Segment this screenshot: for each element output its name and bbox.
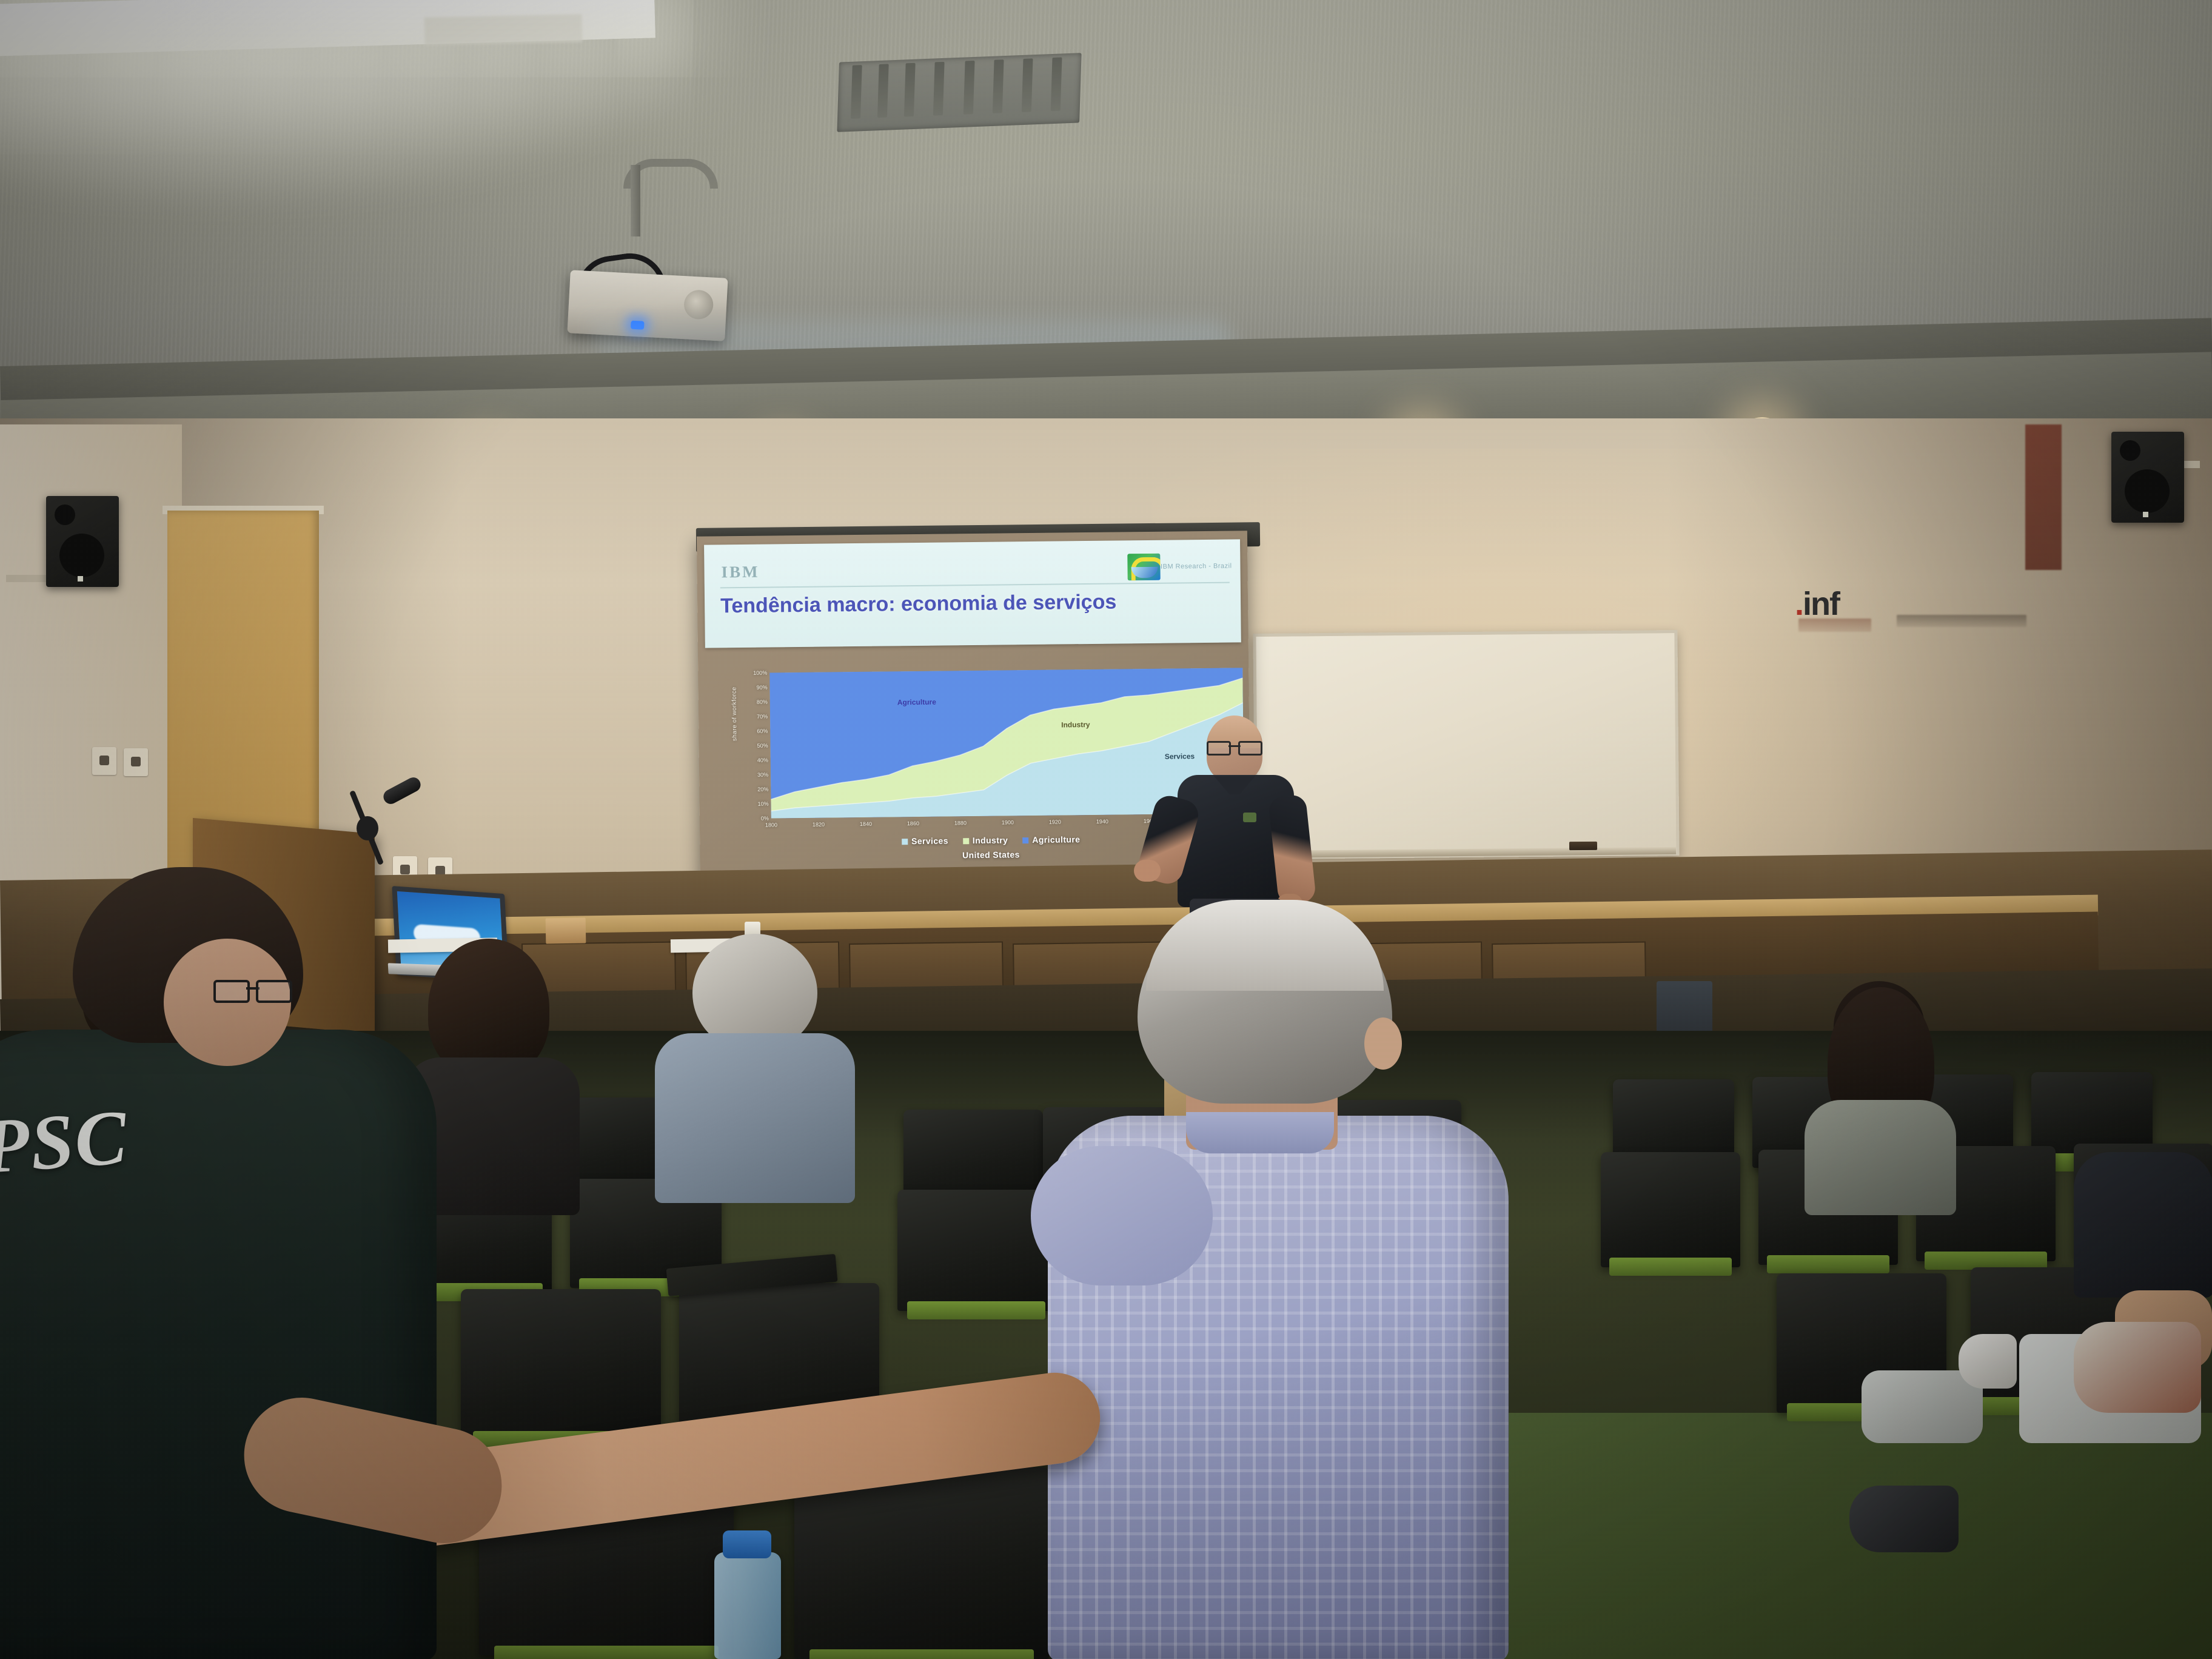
chart-x-tick: 1800 xyxy=(765,822,777,828)
chart-y-tick: 10% xyxy=(757,801,768,807)
chart-x-tick: 1820 xyxy=(813,822,825,828)
foreground-attendee-collar xyxy=(1186,1112,1334,1153)
inf-logo-dot: . xyxy=(1795,586,1803,622)
chart-y-tick: 90% xyxy=(756,685,767,691)
chart-x-tick: 1880 xyxy=(954,820,967,826)
microphone-joint xyxy=(357,816,378,840)
chart-x-tick: 1900 xyxy=(1002,819,1014,825)
air-conditioning-vent-icon xyxy=(837,53,1081,132)
fluorescent-light-secondary-icon xyxy=(424,14,583,45)
projector-lens-icon xyxy=(683,289,714,320)
water-bottle-cap-icon xyxy=(723,1530,771,1558)
chart-y-axis-ticks: 0%10%20%30%40%50%60%70%80%90%100% xyxy=(739,673,769,819)
chart-x-tick: 1940 xyxy=(1096,819,1108,825)
foreground-attendee-hair-top xyxy=(1146,900,1384,991)
inf-logo-word: inf xyxy=(1803,586,1839,622)
chart-y-tick: 80% xyxy=(757,699,768,705)
presenter-left-hand xyxy=(1134,860,1161,882)
ibm-research-brazil-logo-icon xyxy=(1127,554,1160,581)
slide-header-panel: IBM IBM Research - Brazil Tendência macr… xyxy=(704,539,1241,648)
chart-y-axis-label: share of workforce xyxy=(731,687,739,742)
chart-legend-item: Agriculture xyxy=(1022,834,1080,845)
whiteboard-eraser-icon[interactable] xyxy=(1569,842,1597,850)
ceiling-projector-icon xyxy=(567,270,728,341)
chart-legend-swatch xyxy=(963,838,969,844)
chart-legend-label: Industry xyxy=(973,835,1008,845)
chart-y-tick: 100% xyxy=(753,670,767,676)
psc-tshirt-text: PSC xyxy=(0,1093,131,1191)
auditorium-photo: .inf IBM IBM Research - Brazil Tendência… xyxy=(0,0,2212,1659)
inf-logo: .inf xyxy=(1795,585,1839,623)
chart-y-tick: 30% xyxy=(757,772,768,778)
chart-y-tick: 0% xyxy=(761,816,769,822)
chart-legend-swatch xyxy=(1022,837,1028,843)
attendee-center-bald xyxy=(643,934,873,1201)
chart-y-tick: 50% xyxy=(757,743,768,749)
chart-y-tick: 20% xyxy=(757,786,768,793)
chart-legend-swatch xyxy=(902,839,908,845)
slide-title: Tendência macro: economia de serviços xyxy=(720,589,1230,618)
projector-power-led xyxy=(631,321,645,330)
wall-speaker-left-icon xyxy=(46,496,119,587)
chart-y-tick: 60% xyxy=(757,728,768,734)
foreground-attendee-ear xyxy=(1364,1017,1402,1070)
foreground-attendee xyxy=(946,903,1601,1659)
wall-outlet-icon[interactable] xyxy=(92,747,116,775)
chart-legend-item: Industry xyxy=(963,835,1008,845)
chart-x-tick: 1840 xyxy=(860,821,872,827)
chart-legend-label: Services xyxy=(911,836,948,846)
attendee-right-long-hair xyxy=(1794,981,1963,1199)
presenter-shirt-logo-icon xyxy=(1243,813,1256,822)
ibm-research-brazil-label: IBM Research - Brazil xyxy=(1161,563,1232,571)
inf-logo-subtitle xyxy=(1798,618,1871,632)
wall-speaker-right-icon xyxy=(2111,432,2184,523)
chart-legend-item: Services xyxy=(902,836,948,846)
wall-outlet-icon[interactable] xyxy=(124,748,148,776)
water-bottle-icon[interactable] xyxy=(714,1552,781,1659)
left-attendee-glasses-icon xyxy=(213,980,292,998)
inf-logo-institute-text xyxy=(1897,615,2026,627)
ibm-logo: IBM xyxy=(721,563,759,582)
attendee-right-foot xyxy=(1849,1461,1989,1570)
projector-mount-arm xyxy=(631,165,640,236)
chart-y-tick: 40% xyxy=(757,757,768,763)
seat[interactable] xyxy=(1601,1152,1740,1267)
chart-y-tick: 70% xyxy=(757,714,768,720)
attendee-right-sneaker xyxy=(1862,1334,2013,1467)
left-foreground-attendee: PSC xyxy=(0,867,509,1659)
chart-legend-label: Agriculture xyxy=(1032,834,1080,845)
foreground-attendee-shoulder xyxy=(1031,1146,1213,1285)
presenter-glasses-icon xyxy=(1207,741,1262,752)
chart-x-tick: 1860 xyxy=(907,820,919,826)
attendee-right-shoe-front xyxy=(2062,1322,2212,1443)
chart-x-tick: 1920 xyxy=(1049,819,1061,825)
slide-header-rule xyxy=(720,582,1230,589)
